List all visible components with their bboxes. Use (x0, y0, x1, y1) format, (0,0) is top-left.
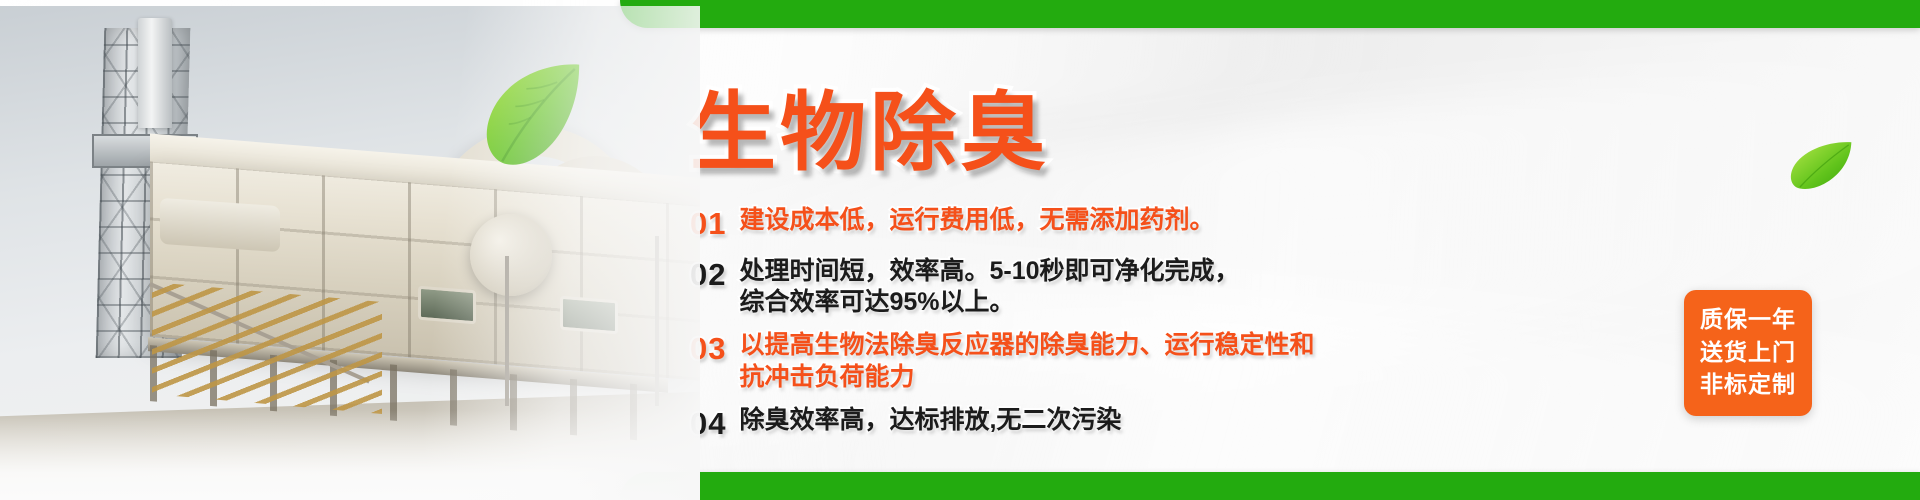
feature-line: 综合效率可达95%以上。 (739, 287, 1239, 318)
feature-line: 以提高生物法除臭反应器的除臭能力、运行稳定性和 (739, 330, 1314, 361)
feature-line: 抗冲击负荷能力 (739, 362, 1314, 393)
feature-text: 建设成本低，运行费用低，无需添加药剂。 (739, 205, 1214, 236)
feature-text: 除臭效率高，达标排放,无二次污染 (739, 405, 1121, 436)
green-bar-bottom (620, 472, 1920, 500)
list-item: 04 除臭效率高，达标排放,无二次污染 (690, 405, 1330, 444)
badge-line: 质保一年 (1684, 303, 1812, 336)
promo-banner: 生物除臭 01 建设成本低，运行费用低，无需添加药剂。 02 处理时间短，效率高… (0, 0, 1920, 500)
page-title: 生物除臭 (690, 62, 1050, 187)
equipment-photo (0, 6, 700, 500)
leaf-icon (1788, 138, 1854, 194)
feature-line: 除臭效率高，达标排放,无二次污染 (739, 405, 1121, 436)
badge-line: 非标定制 (1684, 368, 1812, 401)
photo-edge-fade (0, 6, 700, 500)
feature-line: 处理时间短，效率高。5-10秒即可净化完成， (739, 256, 1239, 287)
guarantee-badge: 质保一年 送货上门 非标定制 (1684, 290, 1812, 416)
feature-list: 01 建设成本低，运行费用低，无需添加药剂。 02 处理时间短，效率高。5-10… (690, 205, 1330, 456)
green-bar-top (620, 0, 1920, 28)
feature-text: 处理时间短，效率高。5-10秒即可净化完成， 综合效率可达95%以上。 (739, 256, 1239, 319)
list-item: 02 处理时间短，效率高。5-10秒即可净化完成， 综合效率可达95%以上。 (690, 256, 1330, 319)
badge-line: 送货上门 (1684, 336, 1812, 369)
feature-line: 建设成本低，运行费用低，无需添加药剂。 (739, 205, 1214, 236)
feature-text: 以提高生物法除臭反应器的除臭能力、运行稳定性和 抗冲击负荷能力 (739, 330, 1314, 393)
list-item: 01 建设成本低，运行费用低，无需添加药剂。 (690, 205, 1330, 244)
list-item: 03 以提高生物法除臭反应器的除臭能力、运行稳定性和 抗冲击负荷能力 (690, 330, 1330, 393)
